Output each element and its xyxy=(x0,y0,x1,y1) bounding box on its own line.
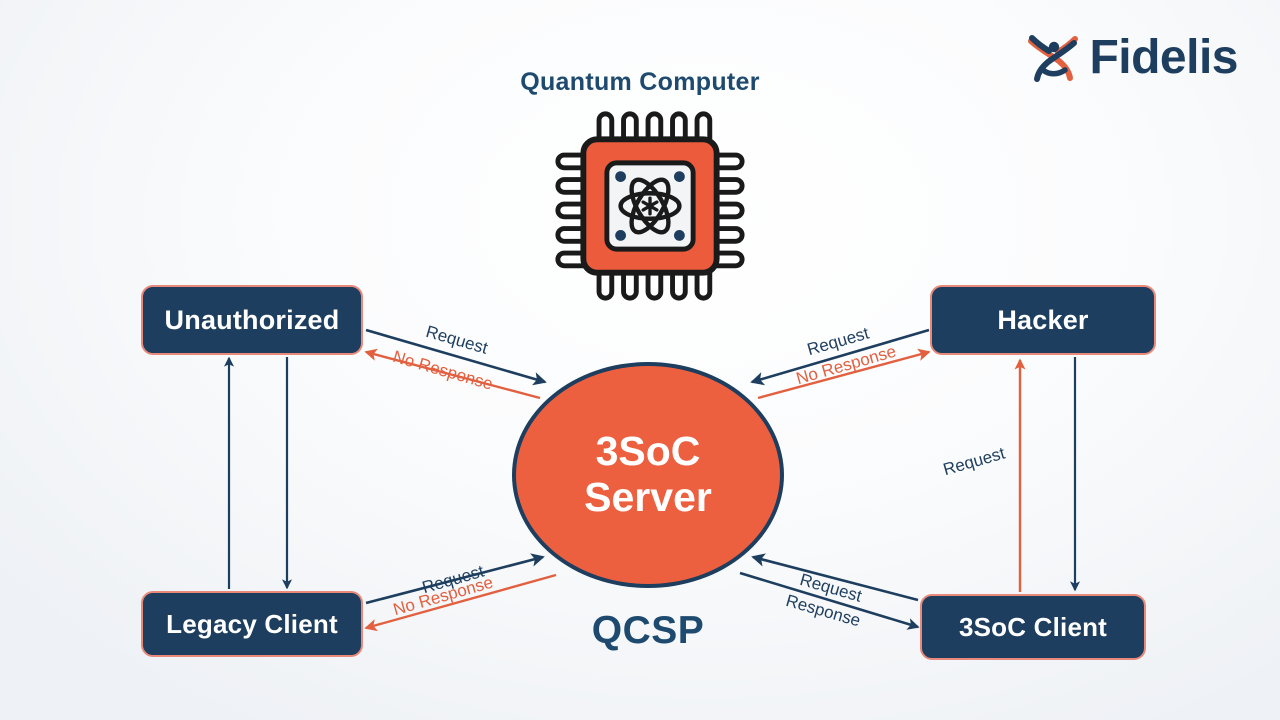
cpu-atom-icon xyxy=(552,108,748,304)
fidelis-wordmark: Fidelis xyxy=(1089,34,1238,82)
node-legacy-client[interactable]: Legacy Client xyxy=(141,591,363,657)
protocol-label: QCSP xyxy=(510,609,786,653)
node-3soc-server-label-line1: 3SoC xyxy=(596,429,701,475)
node-unauthorized-label: Unauthorized xyxy=(165,305,340,336)
node-unauthorized[interactable]: Unauthorized xyxy=(141,285,363,355)
node-hacker[interactable]: Hacker xyxy=(930,285,1156,355)
node-legacy-client-label: Legacy Client xyxy=(166,609,338,640)
node-3soc-server[interactable]: 3SoC Server xyxy=(512,362,784,588)
node-hacker-label: Hacker xyxy=(997,305,1088,336)
node-3soc-server-label-line2: Server xyxy=(584,475,712,521)
fidelis-logo: Fidelis xyxy=(1025,30,1238,86)
diagram-canvas: Request No Response Request No Response … xyxy=(0,0,1280,720)
node-3soc-client[interactable]: 3SoC Client xyxy=(920,594,1146,660)
node-3soc-client-label: 3SoC Client xyxy=(959,612,1107,643)
fidelis-person-icon xyxy=(1025,30,1083,86)
